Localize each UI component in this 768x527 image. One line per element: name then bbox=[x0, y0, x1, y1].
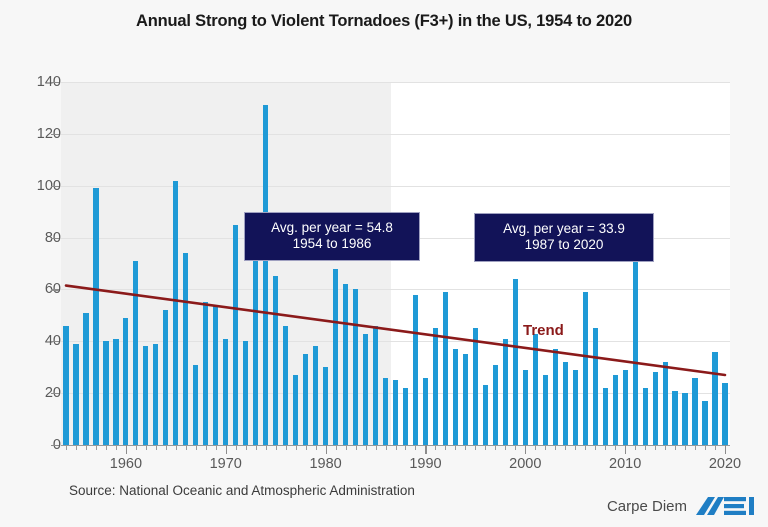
x-tick-minor bbox=[396, 445, 397, 450]
y-tick-mark bbox=[51, 445, 59, 446]
annotation-right-line2: 1987 to 2020 bbox=[485, 237, 643, 253]
x-tick-major bbox=[126, 445, 127, 454]
bar bbox=[133, 261, 138, 445]
bar bbox=[283, 326, 288, 445]
brand-name: Carpe Diem bbox=[607, 498, 687, 515]
bar bbox=[563, 362, 568, 445]
x-tick-label: 2010 bbox=[595, 456, 655, 472]
x-tick-minor bbox=[156, 445, 157, 450]
bar bbox=[603, 388, 608, 445]
x-tick-minor bbox=[136, 445, 137, 450]
annotation-left-line1: Avg. per year = 54.8 bbox=[271, 220, 393, 235]
x-tick-minor bbox=[585, 445, 586, 450]
x-tick-minor bbox=[475, 445, 476, 450]
x-tick-label: 1980 bbox=[296, 456, 356, 472]
x-tick-minor bbox=[415, 445, 416, 450]
x-tick-minor bbox=[545, 445, 546, 450]
x-tick-minor bbox=[695, 445, 696, 450]
x-tick-major bbox=[425, 445, 426, 454]
x-axis: 1960197019801990200020102020 bbox=[61, 445, 730, 485]
x-tick-minor bbox=[535, 445, 536, 450]
x-tick-minor bbox=[176, 445, 177, 450]
bar bbox=[653, 372, 658, 445]
bar bbox=[273, 276, 278, 445]
aei-logo-icon bbox=[694, 494, 756, 518]
x-tick-minor bbox=[276, 445, 277, 450]
x-tick-minor bbox=[655, 445, 656, 450]
annotation-left-line2: 1954 to 1986 bbox=[255, 236, 409, 252]
bar bbox=[712, 352, 717, 445]
x-tick-label: 1990 bbox=[395, 456, 455, 472]
bar bbox=[233, 225, 238, 445]
x-tick-minor bbox=[515, 445, 516, 450]
x-tick-minor bbox=[186, 445, 187, 450]
x-tick-minor bbox=[236, 445, 237, 450]
x-tick-minor bbox=[605, 445, 606, 450]
x-tick-major bbox=[525, 445, 526, 454]
bar bbox=[583, 292, 588, 445]
x-tick-minor bbox=[196, 445, 197, 450]
bar bbox=[463, 354, 468, 445]
x-tick-minor bbox=[216, 445, 217, 450]
x-tick-label: 1960 bbox=[96, 456, 156, 472]
x-tick-label: 1970 bbox=[196, 456, 256, 472]
bar bbox=[393, 380, 398, 445]
gridline bbox=[61, 341, 730, 342]
x-tick-minor bbox=[166, 445, 167, 450]
x-tick-minor bbox=[615, 445, 616, 450]
x-tick-minor bbox=[665, 445, 666, 450]
bar bbox=[353, 289, 358, 445]
x-tick-minor bbox=[246, 445, 247, 450]
bar bbox=[443, 292, 448, 445]
annotation-right-line1: Avg. per year = 33.9 bbox=[503, 221, 625, 236]
x-tick-major bbox=[226, 445, 227, 454]
x-tick-minor bbox=[645, 445, 646, 450]
x-tick-minor bbox=[106, 445, 107, 450]
bar bbox=[93, 188, 98, 445]
bar bbox=[193, 365, 198, 445]
y-tick-mark bbox=[51, 82, 59, 83]
bar bbox=[183, 253, 188, 445]
bar bbox=[702, 401, 707, 445]
bar bbox=[682, 393, 687, 445]
bar bbox=[543, 375, 548, 445]
y-tick-mark bbox=[51, 134, 59, 135]
bar bbox=[573, 370, 578, 445]
x-tick-minor bbox=[555, 445, 556, 450]
chart-title: Annual Strong to Violent Tornadoes (F3+)… bbox=[0, 12, 768, 31]
bar bbox=[263, 105, 268, 445]
x-tick-minor bbox=[66, 445, 67, 450]
bar bbox=[722, 383, 727, 445]
bar bbox=[493, 365, 498, 445]
gridline bbox=[61, 186, 730, 187]
bar bbox=[333, 269, 338, 445]
bar bbox=[303, 354, 308, 445]
bar bbox=[513, 279, 518, 445]
plot-area: Trend Avg. per year = 54.8 1954 to 1986 … bbox=[61, 82, 730, 445]
bar bbox=[323, 367, 328, 445]
bar bbox=[643, 388, 648, 445]
x-tick-minor bbox=[635, 445, 636, 450]
x-tick-minor bbox=[366, 445, 367, 450]
x-tick-minor bbox=[445, 445, 446, 450]
x-tick-minor bbox=[76, 445, 77, 450]
x-tick-label: 2000 bbox=[495, 456, 555, 472]
bar bbox=[293, 375, 298, 445]
x-tick-minor bbox=[485, 445, 486, 450]
x-tick-major bbox=[625, 445, 626, 454]
bar bbox=[453, 349, 458, 445]
bar bbox=[153, 344, 158, 445]
x-tick-minor bbox=[495, 445, 496, 450]
x-tick-minor bbox=[296, 445, 297, 450]
x-tick-minor bbox=[705, 445, 706, 450]
y-tick-mark bbox=[51, 186, 59, 187]
x-tick-minor bbox=[356, 445, 357, 450]
y-tick-mark bbox=[51, 341, 59, 342]
annotation-box-left: Avg. per year = 54.8 1954 to 1986 bbox=[244, 212, 420, 261]
x-tick-minor bbox=[306, 445, 307, 450]
x-tick-label: 2020 bbox=[695, 456, 755, 472]
bar bbox=[413, 295, 418, 445]
x-tick-minor bbox=[575, 445, 576, 450]
x-tick-minor bbox=[86, 445, 87, 450]
bar bbox=[503, 339, 508, 445]
bar bbox=[383, 378, 388, 445]
x-tick-minor bbox=[316, 445, 317, 450]
gridline bbox=[61, 82, 730, 83]
x-tick-minor bbox=[455, 445, 456, 450]
x-tick-minor bbox=[386, 445, 387, 450]
y-tick-mark bbox=[51, 238, 59, 239]
bar bbox=[423, 378, 428, 445]
x-tick-minor bbox=[376, 445, 377, 450]
y-axis: 020406080100120140 bbox=[0, 0, 61, 527]
bar bbox=[113, 339, 118, 445]
bar bbox=[103, 341, 108, 445]
bar bbox=[223, 339, 228, 445]
x-tick-minor bbox=[565, 445, 566, 450]
bar bbox=[73, 344, 78, 445]
trend-label: Trend bbox=[523, 322, 564, 339]
bar bbox=[343, 284, 348, 445]
bar bbox=[692, 378, 697, 445]
x-tick-minor bbox=[96, 445, 97, 450]
x-tick-minor bbox=[346, 445, 347, 450]
x-tick-minor bbox=[286, 445, 287, 450]
x-tick-minor bbox=[465, 445, 466, 450]
x-tick-minor bbox=[266, 445, 267, 450]
bar bbox=[243, 341, 248, 445]
bar bbox=[83, 313, 88, 445]
bar bbox=[363, 334, 368, 445]
bar bbox=[213, 305, 218, 445]
bar bbox=[613, 375, 618, 445]
bar bbox=[313, 346, 318, 445]
bar bbox=[433, 328, 438, 445]
bar bbox=[63, 326, 68, 445]
gridline bbox=[61, 134, 730, 135]
x-tick-minor bbox=[146, 445, 147, 450]
x-tick-minor bbox=[405, 445, 406, 450]
y-tick-mark bbox=[51, 289, 59, 290]
bar bbox=[533, 334, 538, 445]
brand-logo: Carpe Diem bbox=[607, 494, 756, 518]
bar bbox=[473, 328, 478, 445]
x-tick-minor bbox=[336, 445, 337, 450]
x-tick-minor bbox=[256, 445, 257, 450]
annotation-box-right: Avg. per year = 33.9 1987 to 2020 bbox=[474, 213, 654, 262]
x-tick-minor bbox=[116, 445, 117, 450]
x-tick-major bbox=[326, 445, 327, 454]
bar bbox=[373, 326, 378, 445]
x-tick-minor bbox=[675, 445, 676, 450]
y-tick-mark bbox=[51, 393, 59, 394]
bar bbox=[672, 391, 677, 445]
x-tick-major bbox=[725, 445, 726, 454]
tornado-bar-chart: Annual Strong to Violent Tornadoes (F3+)… bbox=[0, 0, 768, 527]
bar bbox=[593, 328, 598, 445]
bar bbox=[523, 370, 528, 445]
bar bbox=[123, 318, 128, 445]
x-tick-minor bbox=[206, 445, 207, 450]
bar bbox=[663, 362, 668, 445]
bar bbox=[403, 388, 408, 445]
x-tick-minor bbox=[435, 445, 436, 450]
bar bbox=[483, 385, 488, 445]
bar bbox=[623, 370, 628, 445]
x-tick-minor bbox=[685, 445, 686, 450]
source-note: Source: National Oceanic and Atmospheric… bbox=[69, 483, 415, 498]
x-tick-minor bbox=[715, 445, 716, 450]
bar bbox=[163, 310, 168, 445]
bar bbox=[553, 349, 558, 445]
bar bbox=[173, 181, 178, 445]
bar bbox=[203, 302, 208, 445]
bar bbox=[143, 346, 148, 445]
gridline bbox=[61, 289, 730, 290]
x-tick-minor bbox=[595, 445, 596, 450]
x-tick-minor bbox=[505, 445, 506, 450]
